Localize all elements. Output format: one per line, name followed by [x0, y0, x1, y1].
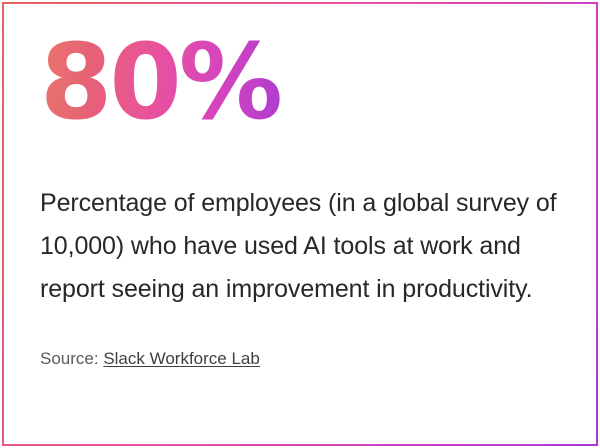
- statistic-figure: 80%: [40, 26, 280, 138]
- card-content: 80% Percentage of employees (in a global…: [0, 0, 600, 448]
- statistic-card: 80% Percentage of employees (in a global…: [0, 0, 600, 448]
- source-link[interactable]: Slack Workforce Lab: [103, 349, 260, 368]
- source-label: Source:: [40, 349, 103, 368]
- source-line: Source: Slack Workforce Lab: [40, 347, 560, 371]
- statistic-description: Percentage of employees (in a global sur…: [40, 182, 560, 311]
